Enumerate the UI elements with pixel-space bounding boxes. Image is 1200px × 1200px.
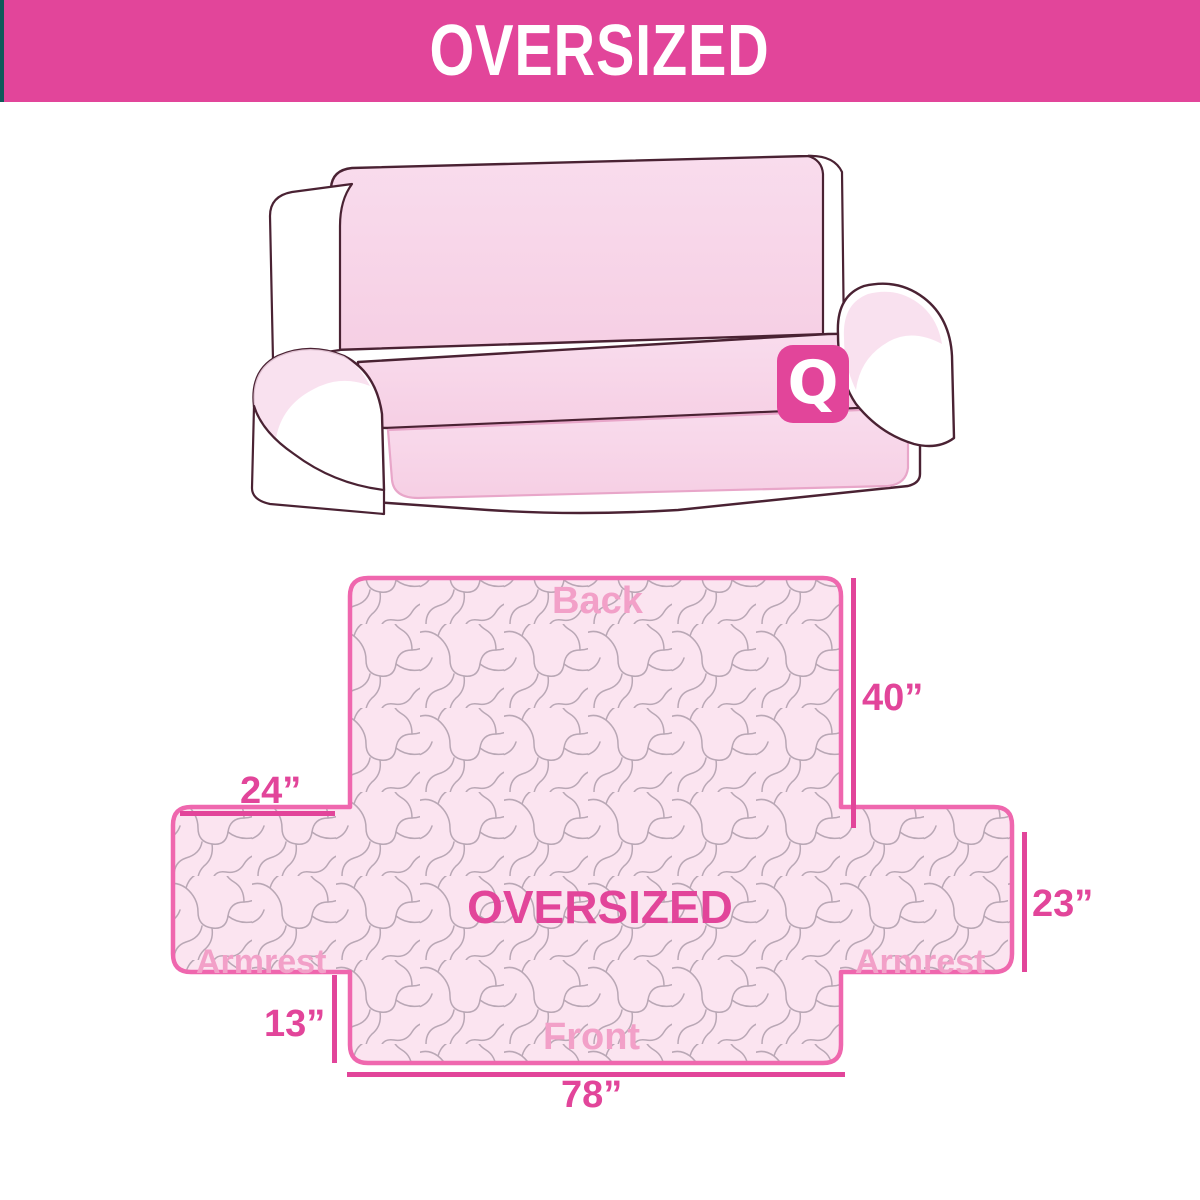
size-chart-page: OVERSIZED	[0, 0, 1200, 1200]
sofa-illustration: Q	[248, 138, 958, 518]
brand-logo-letter: Q	[787, 353, 838, 413]
dimension-label-front-skirt-height: 13”	[264, 1005, 325, 1043]
page-title: OVERSIZED	[430, 15, 770, 87]
panel-label-front: Front	[543, 1018, 640, 1056]
dimension-line-front-skirt-height	[332, 975, 337, 1063]
dimension-label-armrest-height: 23”	[1032, 885, 1093, 923]
panel-label-armrest-left: Armrest	[196, 945, 326, 979]
dimension-line-back-height	[851, 578, 856, 828]
dimension-label-total-width: 78”	[561, 1076, 622, 1114]
dimension-line-armrest-height	[1022, 832, 1027, 972]
dimension-label-back-inset-width: 24”	[240, 772, 301, 810]
panel-label-armrest-right: Armrest	[855, 945, 985, 979]
panel-label-back: Back	[552, 582, 643, 620]
sofa-icon	[248, 138, 958, 518]
header-banner: OVERSIZED	[0, 0, 1200, 102]
brand-logo-badge: Q	[777, 345, 849, 423]
dimension-label-back-height: 40”	[862, 679, 923, 717]
diagram-center-label: OVERSIZED	[0, 884, 1200, 930]
header-edge-strip	[0, 0, 4, 102]
